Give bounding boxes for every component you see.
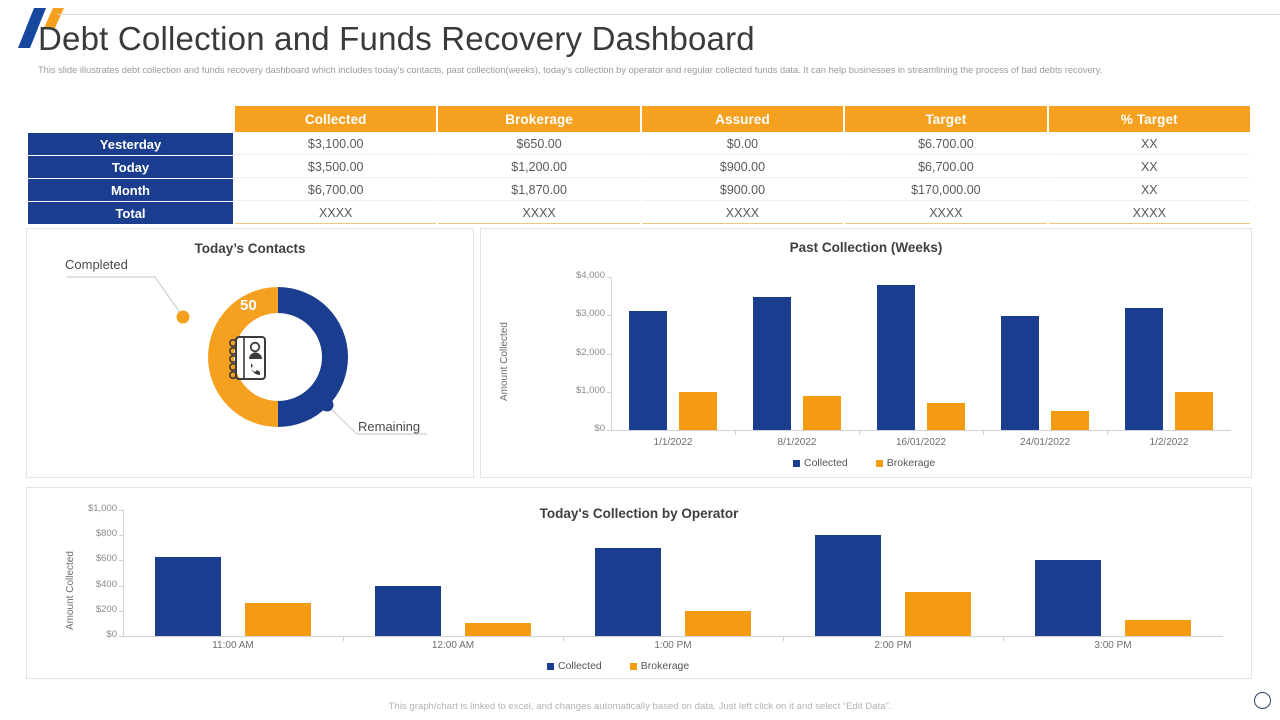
- y-axis-tick-label: $3,000: [563, 308, 605, 319]
- x-axis-tick-label: 1:00 PM: [563, 640, 783, 651]
- legend-item-brokerage[interactable]: Brokerage: [876, 457, 935, 469]
- bar-collected-100PM: [595, 548, 661, 636]
- bar-collected-122022: [1125, 308, 1163, 430]
- x-axis-tick-label: 2:00 PM: [783, 640, 1003, 651]
- row-header-today: Today: [28, 156, 233, 178]
- bar-brokerage-812022: [803, 396, 841, 430]
- legend-swatch-icon: [876, 460, 883, 467]
- cell-total-brokerage: XXXX: [438, 202, 639, 224]
- cell-yesterday-percent-target: XX: [1049, 133, 1250, 155]
- table-header-row: Collected Brokerage Assured Target % Tar…: [28, 106, 1250, 132]
- cell-month-percent-target: XX: [1049, 179, 1250, 201]
- dashboard-slide: Debt Collection and Funds Recovery Dashb…: [0, 0, 1280, 720]
- bar-brokerage-200PM: [905, 592, 971, 636]
- bar-collected-24012022: [1001, 316, 1039, 430]
- y-axis-tick-mark: [607, 354, 611, 355]
- chart-legend: CollectedBrokerage: [793, 457, 935, 469]
- y-axis-line: [123, 510, 124, 636]
- legend-label: Brokerage: [641, 660, 689, 672]
- summary-table: Collected Brokerage Assured Target % Tar…: [26, 105, 1252, 225]
- cell-month-collected: $6,700.00: [235, 179, 436, 201]
- bar-brokerage-300PM: [1125, 620, 1191, 636]
- page-title: Debt Collection and Funds Recovery Dashb…: [38, 20, 755, 58]
- row-header-total: Total: [28, 202, 233, 224]
- x-axis-tick-label: 3:00 PM: [1003, 640, 1223, 651]
- y-axis-line: [611, 277, 612, 430]
- past-collection-panel: Past Collection (Weeks) Amount Collected…: [480, 228, 1252, 478]
- legend-label: Collected: [558, 660, 602, 672]
- row-header-yesterday: Yesterday: [28, 133, 233, 155]
- y-axis-tick-mark: [119, 510, 123, 511]
- address-book-icon: [225, 333, 271, 383]
- bar-brokerage-1100AM: [245, 603, 311, 636]
- y-axis-tick-label: $400: [75, 579, 117, 590]
- table-corner-cell: [28, 106, 233, 132]
- donut-value-remaining: 50: [240, 424, 257, 441]
- footer-note: This graph/chart is linked to excel, and…: [0, 701, 1280, 712]
- legend-swatch-icon: [793, 460, 800, 467]
- bar-brokerage-16012022: [927, 403, 965, 430]
- x-axis-tick-label: 24/01/2022: [983, 437, 1107, 448]
- y-axis-tick-label: $200: [75, 604, 117, 615]
- legend-swatch-icon: [547, 663, 554, 670]
- legend-item-brokerage[interactable]: Brokerage: [630, 660, 689, 672]
- table-row: Yesterday $3,100.00 $650.00 $0.00 $6.700…: [28, 133, 1250, 155]
- y-axis-tick-mark: [607, 430, 611, 431]
- past-collection-chart: $0$1,000$2,000$3,000$4,0001/1/20228/1/20…: [481, 229, 1253, 479]
- todays-collection-operator-chart: $0$200$400$600$800$1,00011:00 AM12:00 AM…: [27, 488, 1253, 680]
- bar-collected-200PM: [815, 535, 881, 636]
- cell-today-percent-target: XX: [1049, 156, 1250, 178]
- y-axis-tick-mark: [607, 315, 611, 316]
- cell-today-assured: $900.00: [642, 156, 843, 178]
- x-axis-tick-label: 1/1/2022: [611, 437, 735, 448]
- bar-brokerage-100PM: [685, 611, 751, 636]
- cell-month-brokerage: $1,870.00: [438, 179, 639, 201]
- y-axis-tick-mark: [119, 560, 123, 561]
- legend-swatch-icon: [630, 663, 637, 670]
- cell-yesterday-collected: $3,100.00: [235, 133, 436, 155]
- x-axis-category-separator: [859, 430, 860, 435]
- x-axis-line: [611, 430, 1231, 431]
- y-axis-tick-label: $800: [75, 528, 117, 539]
- bar-collected-112022: [629, 311, 667, 430]
- bar-collected-1200AM: [375, 586, 441, 636]
- bar-brokerage-24012022: [1051, 411, 1089, 430]
- cell-yesterday-target: $6.700.00: [845, 133, 1046, 155]
- x-axis-tick-label: 1/2/2022: [1107, 437, 1231, 448]
- bar-brokerage-112022: [679, 392, 717, 430]
- x-axis-category-separator: [1107, 430, 1108, 435]
- donut-value-completed: 50: [240, 297, 257, 314]
- legend-item-collected[interactable]: Collected: [547, 660, 602, 672]
- x-axis-tick-label: 8/1/2022: [735, 437, 859, 448]
- y-axis-tick-label: $0: [563, 423, 605, 434]
- bar-brokerage-1200AM: [465, 623, 531, 636]
- x-axis-line: [123, 636, 1223, 637]
- y-axis-tick-mark: [119, 586, 123, 587]
- cell-total-assured: XXXX: [642, 202, 843, 224]
- bar-collected-300PM: [1035, 560, 1101, 636]
- y-axis-tick-label: $4,000: [563, 270, 605, 281]
- cell-month-target: $170,000.00: [845, 179, 1046, 201]
- cell-yesterday-assured: $0.00: [642, 133, 843, 155]
- y-axis-tick-label: $0: [75, 629, 117, 640]
- bar-collected-812022: [753, 297, 791, 430]
- cell-today-collected: $3,500.00: [235, 156, 436, 178]
- column-header-brokerage: Brokerage: [438, 106, 639, 132]
- x-axis-tick-label: 16/01/2022: [859, 437, 983, 448]
- row-header-month: Month: [28, 179, 233, 201]
- column-header-assured: Assured: [642, 106, 843, 132]
- bar-collected-1100AM: [155, 557, 221, 636]
- cell-today-brokerage: $1,200.00: [438, 156, 639, 178]
- bar-brokerage-122022: [1175, 392, 1213, 430]
- x-axis-tick-label: 12:00 AM: [343, 640, 563, 651]
- y-axis-tick-label: $2,000: [563, 347, 605, 358]
- todays-collection-operator-panel: Today's Collection by Operator Amount Co…: [26, 487, 1252, 679]
- y-axis-tick-label: $1,000: [75, 503, 117, 514]
- legend-item-collected[interactable]: Collected: [793, 457, 848, 469]
- y-axis-tick-mark: [119, 535, 123, 536]
- x-axis-category-separator: [735, 430, 736, 435]
- y-axis-tick-mark: [607, 277, 611, 278]
- header-divider: [58, 14, 1280, 15]
- cell-total-target: XXXX: [845, 202, 1046, 224]
- table-row: Total XXXX XXXX XXXX XXXX XXXX: [28, 202, 1250, 224]
- x-axis-tick-label: 11:00 AM: [123, 640, 343, 651]
- callout-label-completed: Completed: [65, 257, 128, 272]
- page-subtitle: This slide illustrates debt collection a…: [38, 64, 1252, 77]
- cell-total-collected: XXXX: [235, 202, 436, 224]
- y-axis-tick-mark: [607, 392, 611, 393]
- legend-label: Collected: [804, 457, 848, 469]
- y-axis-tick-mark: [119, 611, 123, 612]
- cell-today-target: $6,700.00: [845, 156, 1046, 178]
- table-row: Month $6,700.00 $1,870.00 $900.00 $170,0…: [28, 179, 1250, 201]
- y-axis-tick-label: $600: [75, 553, 117, 564]
- todays-contacts-panel: Today’s Contacts Completed Remaining 50 …: [26, 228, 474, 478]
- cell-month-assured: $900.00: [642, 179, 843, 201]
- legend-label: Brokerage: [887, 457, 935, 469]
- bar-collected-16012022: [877, 285, 915, 430]
- cell-total-percent-target: XXXX: [1049, 202, 1250, 224]
- table-row: Today $3,500.00 $1,200.00 $900.00 $6,700…: [28, 156, 1250, 178]
- column-header-target: Target: [845, 106, 1046, 132]
- y-axis-tick-mark: [119, 636, 123, 637]
- cell-yesterday-brokerage: $650.00: [438, 133, 639, 155]
- chart-legend: CollectedBrokerage: [547, 660, 689, 672]
- callout-label-remaining: Remaining: [358, 419, 420, 434]
- x-axis-category-separator: [983, 430, 984, 435]
- column-header-percent-target: % Target: [1049, 106, 1250, 132]
- corner-circle-decoration: [1254, 692, 1271, 709]
- column-header-collected: Collected: [235, 106, 436, 132]
- y-axis-tick-label: $1,000: [563, 385, 605, 396]
